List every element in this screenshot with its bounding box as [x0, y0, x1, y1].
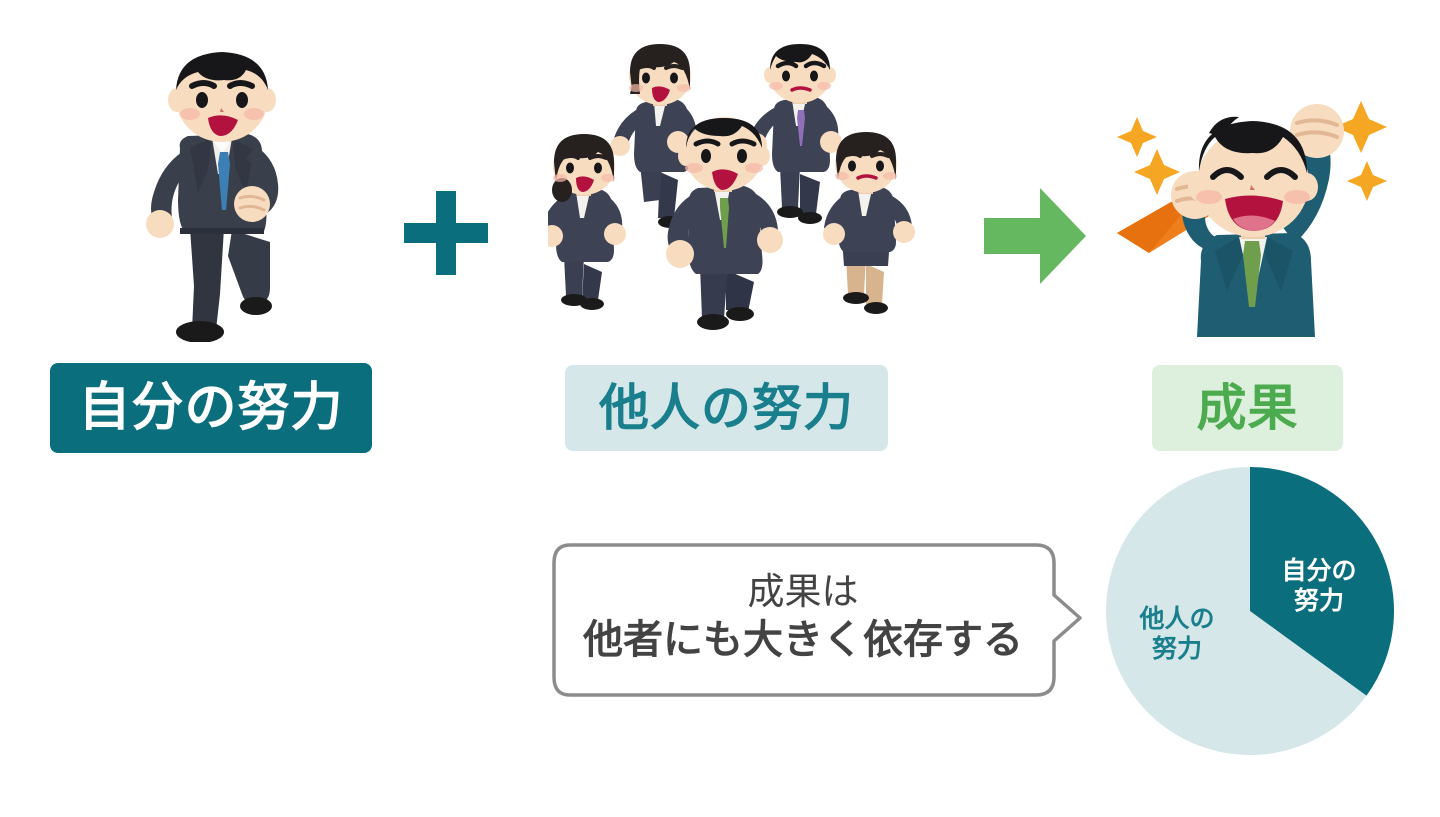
speech-bubble-line-1: 成果は [748, 572, 859, 613]
chip-label-text: 他人の努力 [599, 383, 854, 433]
speech-bubble-line-2: 他者にも大きく依存する [583, 618, 1023, 662]
pie-label-self-effort: 自分の 努力 [1264, 557, 1374, 616]
celebrating-businessman-illustration [1115, 75, 1390, 345]
plus-icon [398, 185, 494, 281]
chip-label-text: 自分の努力 [78, 382, 343, 434]
label-chip-result: 成果 [1152, 365, 1343, 451]
speech-bubble-text: 成果は 他者にも大きく依存する [552, 541, 1054, 693]
running-businessman-illustration [120, 42, 320, 342]
label-chip-self-effort: 自分の努力 [50, 363, 372, 453]
speech-bubble: 成果は 他者にも大きく依存する [552, 541, 1086, 699]
chip-label-text: 成果 [1197, 383, 1299, 433]
pie-label-others-effort: 他人の 努力 [1122, 605, 1232, 664]
effort-share-pie-chart: 自分の 努力 他人の 努力 [1104, 465, 1396, 757]
green-arrow-icon [982, 186, 1088, 286]
running-businesspeople-illustration [548, 42, 928, 342]
label-chip-others-effort: 他人の努力 [565, 365, 888, 451]
slide-canvas: 自分の努力 他人の努力 成果 成果は 他者にも大きく依存する 自分の 努力 他人… [0, 0, 1440, 817]
